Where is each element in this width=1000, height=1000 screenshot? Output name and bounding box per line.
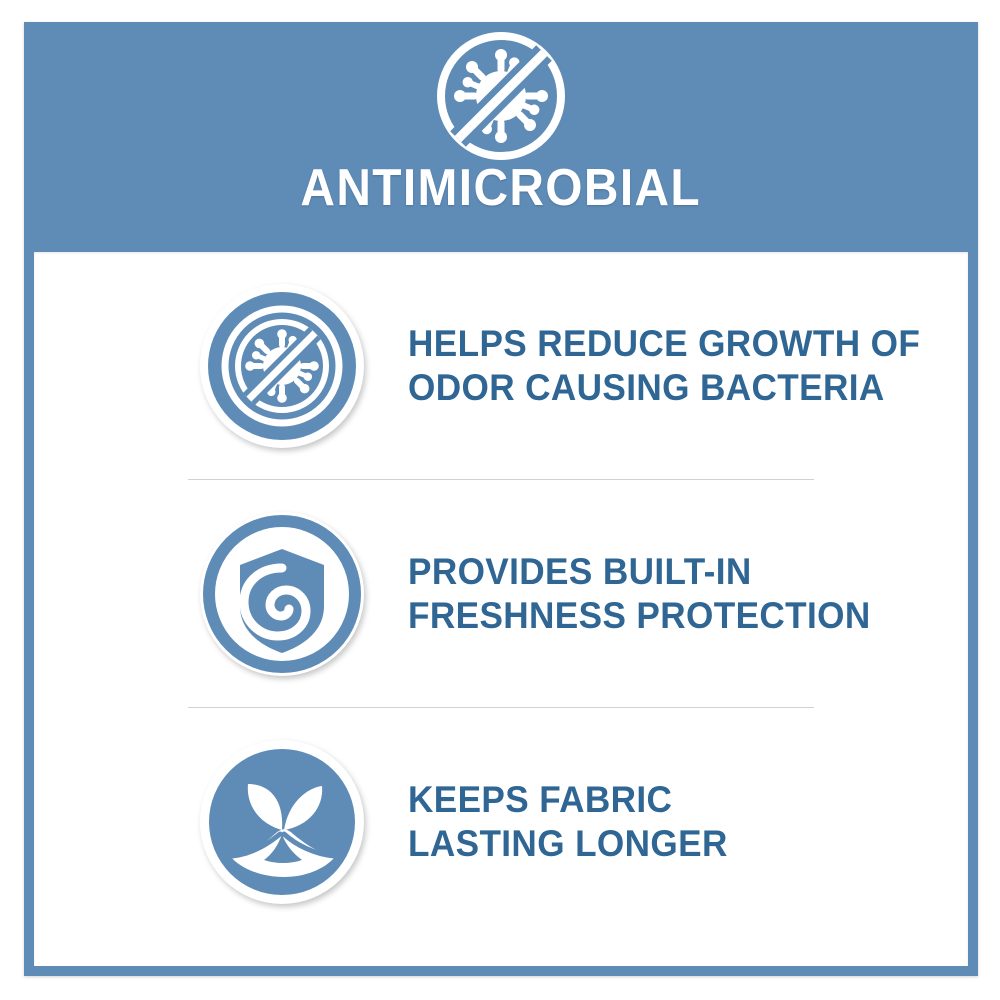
- feature-line-2: ODOR CAUSING BACTERIA: [408, 366, 920, 410]
- sprout-leaf-icon: [198, 738, 366, 906]
- row-divider: [188, 479, 814, 480]
- feature-line-2: FRESHNESS PROTECTION: [408, 594, 871, 638]
- feature-line-1: HELPS REDUCE GROWTH OF: [408, 322, 920, 366]
- feature-line-1: PROVIDES BUILT-IN: [408, 550, 871, 594]
- no-germ-icon: [198, 282, 366, 450]
- feature-row-fabric: KEEPS FABRIC LASTING LONGER: [34, 708, 968, 935]
- page-title: ANTIMICROBIAL: [301, 160, 702, 216]
- feature-card-panel: ANTIMICROBIAL: [24, 22, 978, 976]
- feature-row-bacteria: HELPS REDUCE GROWTH OF ODOR CAUSING BACT…: [34, 252, 968, 479]
- row-divider: [188, 707, 814, 708]
- feature-line-1: KEEPS FABRIC: [408, 778, 728, 822]
- infographic-canvas: ANTIMICROBIAL: [0, 0, 1000, 1000]
- feature-row-freshness: PROVIDES BUILT-IN FRESHNESS PROTECTION: [34, 480, 968, 707]
- feature-line-2: LASTING LONGER: [408, 822, 728, 866]
- feature-text-fabric: KEEPS FABRIC LASTING LONGER: [408, 778, 728, 866]
- feature-text-freshness: PROVIDES BUILT-IN FRESHNESS PROTECTION: [408, 550, 871, 638]
- feature-text-bacteria: HELPS REDUCE GROWTH OF ODOR CAUSING BACT…: [408, 322, 920, 410]
- no-germ-icon: [433, 28, 569, 164]
- feature-list: HELPS REDUCE GROWTH OF ODOR CAUSING BACT…: [34, 252, 968, 966]
- feature-list-card: HELPS REDUCE GROWTH OF ODOR CAUSING BACT…: [34, 252, 968, 966]
- shield-swirl-icon: [198, 510, 366, 678]
- card-header: ANTIMICROBIAL: [24, 22, 978, 250]
